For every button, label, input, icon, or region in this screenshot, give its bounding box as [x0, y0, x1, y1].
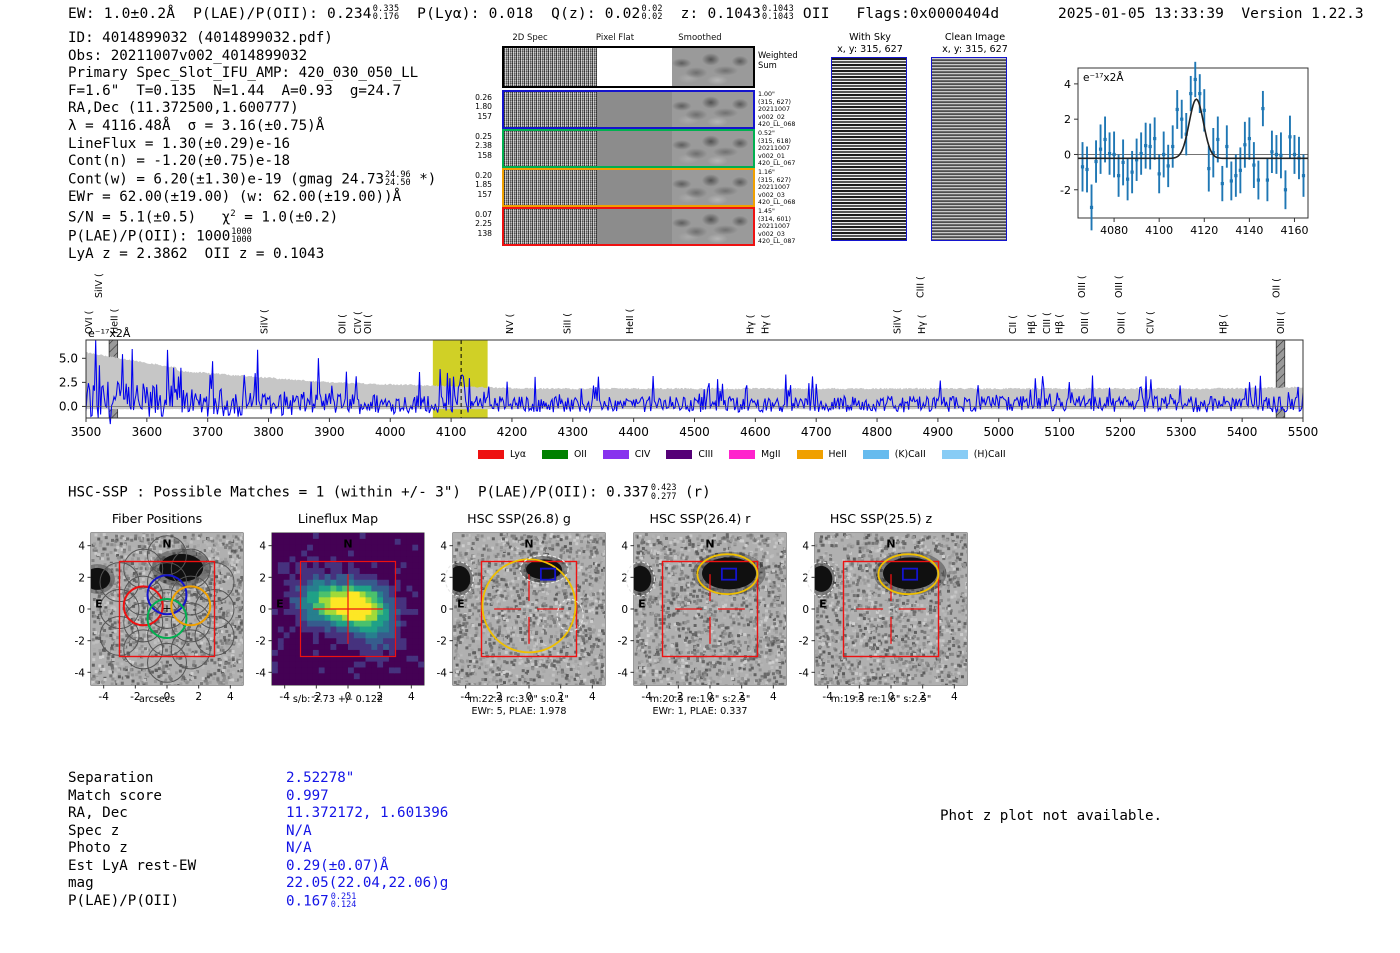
svg-text:5200: 5200	[1105, 425, 1136, 439]
panel-title-hsc-r: HSC SSP(26.4) r	[605, 511, 795, 526]
svg-text:SiIV (: SiIV (	[893, 309, 904, 334]
legend-swatch	[542, 450, 568, 459]
fiber-3-stats: 0.20 1.85 157	[430, 171, 492, 199]
svg-text:4500: 4500	[679, 425, 710, 439]
info-ewr: EWr = 62.00(±19.00) (w: 62.00(±19.00))Å	[68, 189, 436, 207]
weighted-sum-label: Weighted Sum	[758, 50, 798, 70]
panel-title-lineflux-map: Lineflux Map	[243, 511, 433, 526]
svg-text:E: E	[457, 597, 465, 610]
legend-item-oii: OII	[542, 449, 587, 460]
svg-text:OIII (: OIII (	[1116, 311, 1127, 334]
qz-label: Q(z):	[551, 6, 596, 22]
svg-text:-2: -2	[256, 636, 266, 648]
fiber-3-strip	[502, 168, 755, 207]
legend-item-mgii: MgII	[729, 449, 780, 460]
legend-swatch	[729, 450, 755, 459]
legend-swatch	[603, 450, 629, 459]
svg-text:-4: -4	[256, 667, 267, 679]
hsc-plae-bounds: 0.4230.277	[651, 484, 677, 501]
svg-text:-2: -2	[1060, 184, 1071, 197]
legend-label: MgII	[761, 449, 780, 460]
svg-text:CII (: CII (	[1008, 315, 1019, 334]
svg-text:Hβ (: Hβ (	[1054, 314, 1065, 334]
ws-smoothed-image	[672, 48, 753, 86]
panel-title-fiber-positions: Fiber Positions	[62, 511, 252, 526]
svg-text:CIV (: CIV (	[353, 311, 364, 334]
svg-text:4600: 4600	[740, 425, 771, 439]
match-plae-bounds: 0.2510.124	[331, 893, 357, 910]
fiber-4-meta: 1.45" (314, 601) 20211007 v002_03 420_LL…	[758, 208, 795, 246]
legend-swatch	[478, 450, 504, 459]
svg-text:4400: 4400	[618, 425, 649, 439]
svg-text:+: +	[162, 602, 171, 615]
svg-text:0: 0	[440, 604, 447, 616]
svg-text:Hγ (: Hγ (	[917, 315, 928, 335]
svg-text:2: 2	[1064, 113, 1071, 126]
z-species: OII	[803, 6, 830, 22]
svg-text:Hβ (: Hβ (	[1027, 314, 1038, 334]
svg-text:4120: 4120	[1190, 224, 1218, 237]
panel-caption-hsc-r: m:20.5 re:1.6" s:2.5" EWr: 1, PLAE: 0.33…	[605, 694, 795, 717]
match-key: mag	[68, 875, 94, 893]
svg-text:4000: 4000	[375, 425, 406, 439]
svg-text:HeII (: HeII (	[109, 309, 120, 334]
ew-value: 1.0±0.2Å	[104, 6, 175, 22]
plya-value: 0.018	[489, 6, 534, 22]
svg-text:NV (: NV (	[505, 314, 516, 334]
info-cont-w: Cont(w) = 6.20(±1.30)e-19 (gmag 24.7324.…	[68, 171, 436, 189]
fiber-4-stats: 0.07 2.25 138	[430, 210, 492, 238]
col-header-2dspec: 2D Spec	[490, 33, 570, 43]
lineflux-map-panel: -4-2024420-2-4NE	[238, 527, 438, 705]
svg-text:HeII (: HeII (	[625, 309, 636, 334]
fiber-2-strip	[502, 129, 755, 168]
summary-header-line: EW: 1.0±0.2Å P(LAE)/P(OII): 0.2340.3350.…	[68, 6, 999, 22]
svg-text:CIII (: CIII (	[916, 276, 927, 298]
legend-item-hcaii: (H)CaII	[942, 449, 1006, 460]
svg-text:5400: 5400	[1227, 425, 1258, 439]
svg-text:0: 0	[78, 604, 85, 616]
svg-text:OIII (: OIII (	[1276, 311, 1287, 334]
legend-label: CIII	[698, 449, 713, 460]
fiber-2-pixelflat-image	[597, 131, 672, 166]
ws-2dspec-image	[504, 48, 597, 86]
svg-text:5300: 5300	[1166, 425, 1197, 439]
svg-text:E: E	[95, 597, 103, 610]
legend-swatch	[863, 450, 889, 459]
svg-text:3800: 3800	[253, 425, 284, 439]
svg-text:OVI (: OVI (	[84, 311, 95, 334]
svg-text:3600: 3600	[132, 425, 163, 439]
panel-title-hsc-g: HSC SSP(26.8) g	[424, 511, 614, 526]
svg-text:4: 4	[621, 541, 628, 553]
svg-text:5100: 5100	[1044, 425, 1075, 439]
fiber-1-smoothed-image	[672, 92, 753, 127]
svg-text:Hβ (: Hβ (	[1219, 314, 1230, 334]
weighted-sum-strip	[502, 46, 755, 88]
detection-info-block: ID: 4014899032 (4014899032.pdf) Obs: 202…	[68, 30, 436, 263]
svg-text:-2: -2	[75, 636, 85, 648]
hsc-r-cutout-panel: -4-2024420-2-4NE	[600, 527, 800, 705]
svg-text:-4: -4	[437, 667, 448, 679]
fiber-2-stats: 0.25 2.38 158	[430, 132, 492, 160]
legend-label: HeII	[829, 449, 847, 460]
svg-text:0.0: 0.0	[59, 399, 78, 413]
svg-text:OIII (: OIII (	[1080, 311, 1091, 334]
svg-text:4900: 4900	[923, 425, 954, 439]
full-spectrum-plot: 3500360037003800390040004100420043004400…	[0, 266, 1400, 466]
match-key: RA, Dec	[68, 805, 128, 823]
clean-image-caption: Clean Image x, y: 315, 627	[920, 32, 1030, 55]
match-key: Separation	[68, 770, 153, 788]
fiber-1-2dspec-image	[504, 92, 597, 127]
svg-text:-2: -2	[618, 636, 628, 648]
info-lineflux: LineFlux = 1.30(±0.29)e-16	[68, 136, 436, 154]
svg-text:4800: 4800	[862, 425, 893, 439]
legend-item-lyα: Lyα	[478, 449, 526, 460]
info-snr-chi2: S/N = 5.1(±0.5) χ2 = 1.0(±0.2)	[68, 206, 436, 227]
legend-item-kcaii: (K)CaII	[863, 449, 926, 460]
svg-text:4100: 4100	[1145, 224, 1173, 237]
with-sky-image	[831, 57, 907, 241]
info-cont-n: Cont(n) = -1.20(±0.75)e-18	[68, 153, 436, 171]
match-key: P(LAE)/P(OII)	[68, 893, 179, 911]
fiber-2-smoothed-image	[672, 131, 753, 166]
spectrum-legend: LyαOIICIVCIIIMgIIHeII(K)CaII(H)CaII	[478, 449, 1022, 460]
svg-text:4: 4	[440, 541, 447, 553]
legend-label: Lyα	[510, 449, 526, 460]
svg-text:4160: 4160	[1280, 224, 1308, 237]
svg-text:5500: 5500	[1288, 425, 1319, 439]
ws-pixelflat-image	[597, 48, 672, 86]
fiber-3-2dspec-image	[504, 170, 597, 205]
svg-text:-4: -4	[75, 667, 86, 679]
timestamp-version: 2025-01-05 13:33:39 Version 1.22.3	[1058, 6, 1364, 22]
fiber-positions-panel: -4-2024420-2-4NE+	[57, 527, 257, 705]
svg-text:OIII (: OIII (	[1077, 275, 1088, 298]
info-radec: RA,Dec (11.372500,1.600777)	[68, 100, 436, 118]
plya-label: P(Lyα):	[417, 6, 480, 22]
match-value: N/A	[286, 823, 312, 841]
info-primary-spec-slot: Primary Spec_Slot_IFU_AMP: 420_030_050_L…	[68, 65, 436, 83]
info-plae-poii: P(LAE)/P(OII): 100010001000	[68, 228, 436, 246]
legend-swatch	[666, 450, 692, 459]
qz-value: 0.02	[605, 6, 641, 22]
info-wavelength-sigma: λ = 4116.48Å σ = 3.16(±0.75)Å	[68, 118, 436, 136]
svg-text:4: 4	[78, 541, 85, 553]
col-header-smoothed: Smoothed	[660, 33, 740, 43]
legend-label: (H)CaII	[974, 449, 1006, 460]
match-value: N/A	[286, 840, 312, 858]
fiber-3-pixelflat-image	[597, 170, 672, 205]
svg-text:3500: 3500	[71, 425, 102, 439]
svg-text:-2: -2	[437, 636, 447, 648]
col-header-pixelflat: Pixel Flat	[575, 33, 655, 43]
match-value: 22.05(22.04,22.06)g	[286, 875, 448, 893]
plae-label: P(LAE)/P(OII):	[193, 6, 318, 22]
fiber-1-pixelflat-image	[597, 92, 672, 127]
version-label: Version 1.22.3	[1241, 6, 1363, 22]
svg-text:4700: 4700	[801, 425, 832, 439]
plae-poii-bounds: 10001000	[231, 228, 251, 245]
with-sky-caption: With Sky x, y: 315, 627	[820, 32, 920, 55]
match-key: Spec z	[68, 823, 119, 841]
emission-line-fit-plot: 40804100412041404160-2024e⁻¹⁷x2Å	[1030, 50, 1320, 265]
panel-caption-hsc-z: m:19.5 re:1.6" s:2.5"	[786, 694, 976, 706]
fiber-3-smoothed-image	[672, 170, 753, 205]
fiber-4-smoothed-image	[672, 209, 753, 244]
match-key: Match score	[68, 788, 162, 806]
fiber-3-meta: 1.16" (315, 627) 20211007 v002_03 420_LL…	[758, 169, 795, 207]
svg-text:SiIV (: SiIV (	[94, 273, 105, 298]
svg-text:CIV (: CIV (	[1146, 311, 1157, 334]
svg-text:4: 4	[259, 541, 266, 553]
svg-text:N: N	[524, 537, 533, 550]
qz-bounds: 0.020.02	[641, 5, 662, 21]
svg-text:OII (: OII (	[1272, 278, 1283, 298]
hsc-headline: HSC-SSP : Possible Matches = 1 (within +…	[68, 484, 711, 501]
legend-swatch	[942, 450, 968, 459]
svg-text:4200: 4200	[497, 425, 528, 439]
fiber-1-stats: 0.26 1.80 157	[430, 93, 492, 121]
hsc-g-cutout-panel: -4-2024420-2-4NE	[419, 527, 619, 705]
plae-value: 0.234	[327, 6, 372, 22]
svg-text:0: 0	[621, 604, 628, 616]
svg-text:2: 2	[440, 572, 447, 584]
fiber-1-strip	[502, 90, 755, 129]
fiber-4-2dspec-image	[504, 209, 597, 244]
legend-label: (K)CaII	[895, 449, 926, 460]
svg-text:2.5: 2.5	[59, 375, 78, 389]
legend-item-ciii: CIII	[666, 449, 713, 460]
match-key: Est LyA rest-EW	[68, 858, 196, 876]
clean-image-image	[931, 57, 1007, 241]
panel-caption-lineflux-map: s/b: 2.73 +/- 0.122	[243, 694, 433, 706]
svg-text:3700: 3700	[192, 425, 223, 439]
z-value: 0.1043	[707, 6, 761, 22]
svg-text:N: N	[343, 537, 352, 550]
info-obs: Obs: 20211007v002_4014899032	[68, 48, 436, 66]
svg-text:E: E	[276, 597, 284, 610]
svg-text:4: 4	[1064, 78, 1071, 91]
ew-label: EW:	[68, 6, 95, 22]
plae-bounds: 0.3350.176	[373, 5, 400, 21]
fiber-2-meta: 0.52" (315, 618) 20211007 v002_01 420_LL…	[758, 130, 795, 168]
photz-note: Phot z plot not available.	[940, 808, 1162, 824]
match-value: 0.1670.2510.124	[286, 893, 356, 911]
svg-text:SiIV (: SiIV (	[260, 309, 271, 334]
legend-label: CIV	[635, 449, 651, 460]
match-value: 2.52278"	[286, 770, 354, 788]
legend-item-heii: HeII	[797, 449, 847, 460]
svg-text:-4: -4	[618, 667, 629, 679]
svg-text:OII (: OII (	[363, 314, 374, 334]
hsc-z-cutout-panel: -4-2024420-2-4NE	[781, 527, 981, 705]
svg-text:4140: 4140	[1235, 224, 1263, 237]
info-seeing-throughput: F=1.6" T=0.135 N=1.44 A=0.93 g=24.7	[68, 83, 436, 101]
svg-text:4300: 4300	[558, 425, 589, 439]
svg-text:CIII (: CIII (	[1042, 312, 1053, 334]
svg-text:3900: 3900	[314, 425, 345, 439]
svg-text:OII (: OII (	[338, 314, 349, 334]
svg-text:2: 2	[621, 572, 628, 584]
svg-text:Hγ (: Hγ (	[745, 315, 756, 335]
svg-text:4100: 4100	[436, 425, 467, 439]
svg-text:N: N	[162, 537, 171, 550]
svg-text:5.0: 5.0	[59, 351, 78, 365]
legend-item-civ: CIV	[603, 449, 651, 460]
svg-text:0: 0	[259, 604, 266, 616]
match-value: 0.29(±0.07)Å	[286, 858, 389, 876]
svg-text:4080: 4080	[1100, 224, 1128, 237]
panel-caption-hsc-g: m:22.3 rc:3.0" s:0.1" EWr: 5, PLAE: 1.97…	[424, 694, 614, 717]
match-value: 11.372172, 1.601396	[286, 805, 448, 823]
svg-text:OIII (: OIII (	[1114, 275, 1125, 298]
legend-label: OII	[574, 449, 587, 460]
svg-text:e⁻¹⁷x2Å: e⁻¹⁷x2Å	[1083, 71, 1124, 84]
z-label: z:	[681, 6, 699, 22]
fiber-4-strip	[502, 207, 755, 246]
flags-label: Flags:0x0000404d	[856, 6, 999, 22]
svg-text:Hγ (: Hγ (	[760, 315, 771, 335]
svg-text:5000: 5000	[983, 425, 1014, 439]
fiber-1-meta: 1.00" (315, 627) 20211007 v002_02 420_LL…	[758, 91, 795, 129]
info-id: ID: 4014899032 (4014899032.pdf)	[68, 30, 436, 48]
fiber-4-pixelflat-image	[597, 209, 672, 244]
match-value: 0.997	[286, 788, 329, 806]
svg-text:0: 0	[1064, 148, 1071, 161]
timestamp: 2025-01-05 13:33:39	[1058, 6, 1224, 22]
panel-caption-fiber-positions: arcsecs	[62, 694, 252, 706]
info-redshifts: LyA z = 2.3862 OII z = 0.1043	[68, 246, 436, 264]
legend-swatch	[797, 450, 823, 459]
fiber-2-2dspec-image	[504, 131, 597, 166]
panel-title-hsc-z: HSC SSP(25.5) z	[786, 511, 976, 526]
svg-text:2: 2	[78, 572, 85, 584]
gmag-bounds: 24.9624.50	[385, 171, 411, 188]
svg-text:SiII (: SiII (	[563, 313, 574, 334]
match-key: Photo z	[68, 840, 128, 858]
svg-text:2: 2	[259, 572, 266, 584]
z-bounds: 0.10430.1043	[762, 5, 794, 21]
